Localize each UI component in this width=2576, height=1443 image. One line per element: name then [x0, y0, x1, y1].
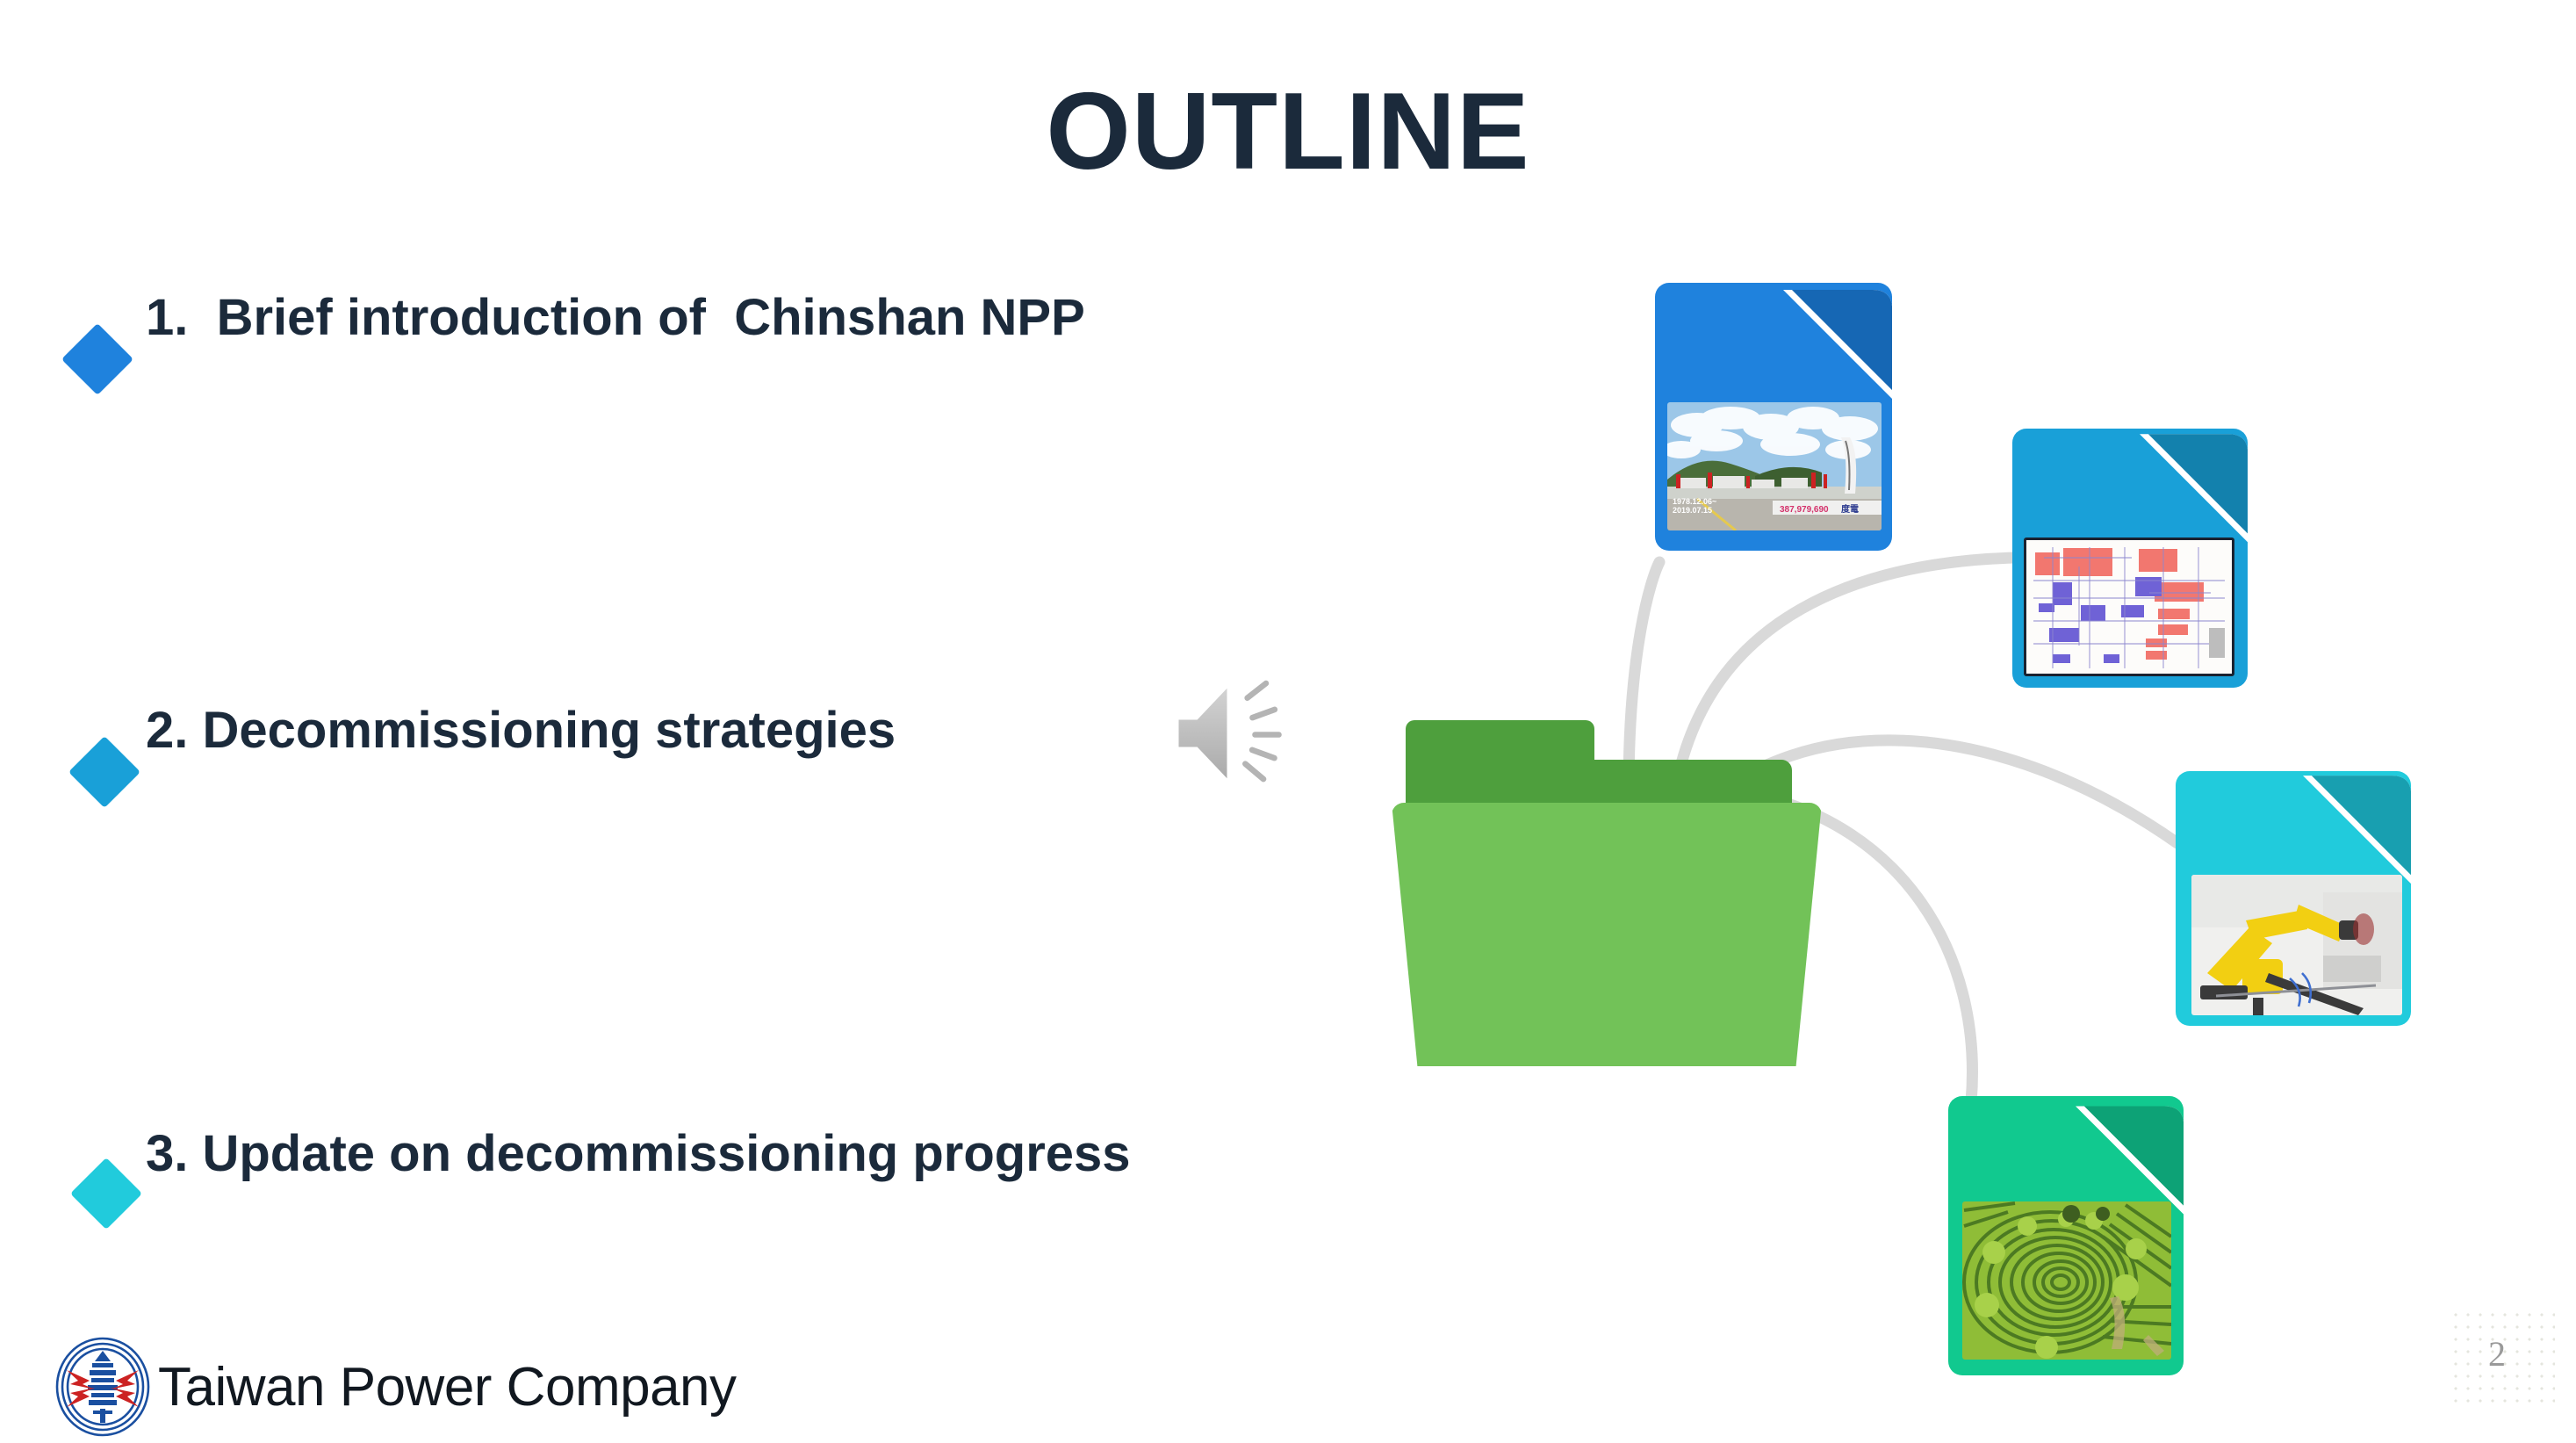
- svg-text:387,979,690: 387,979,690: [1780, 505, 1829, 515]
- robotic-arm-photo-card[interactable]: [2176, 771, 2411, 1026]
- thumbnail-image: [2191, 875, 2402, 1015]
- aerial-green-field-photo-card[interactable]: [1948, 1096, 2184, 1375]
- page-fold-icon: [2140, 429, 2248, 548]
- list-item[interactable]: 3. Update on decommissioning progress: [53, 543, 1220, 675]
- svg-text:1978.12.06~: 1978.12.06~: [1673, 497, 1716, 506]
- footer-brand: Taiwan Power Company: [51, 1335, 737, 1439]
- thumbnail-image: [2024, 538, 2234, 676]
- page-fold-icon: [1783, 283, 1892, 406]
- system-schematic-diagram-card[interactable]: [2012, 429, 2248, 688]
- outline-list: 1. Brief introduction of Chinshan NPP 2.…: [53, 279, 1220, 806]
- diamond-bullet-icon: [70, 1158, 142, 1230]
- diamond-bullet-icon: [61, 323, 133, 395]
- list-item-label: 3. Update on decommissioning progress: [146, 1124, 1199, 1183]
- list-item[interactable]: 1. Brief introduction of Chinshan NPP: [53, 279, 1220, 411]
- page-fold-icon: [2303, 771, 2411, 888]
- list-item-label: 1. Brief introduction of Chinshan NPP: [146, 288, 1164, 347]
- slide-canvas: OUTLINE 1. Brief introduction of Chinsha…: [0, 0, 2576, 1443]
- page-number: 2: [2488, 1333, 2506, 1374]
- list-item[interactable]: 4. Summary: [53, 675, 1220, 806]
- thumbnail-image: [1962, 1201, 2171, 1360]
- thumbnail-image: 1978.12.06~ 2019.07.15 387,979,690 度電: [1667, 402, 1882, 530]
- svg-text:2019.07.15: 2019.07.15: [1673, 506, 1712, 515]
- folder-icon[interactable]: [1392, 720, 1835, 1067]
- taipower-logo-icon: [51, 1335, 155, 1439]
- chinshan-npp-site-photo-card[interactable]: 1978.12.06~ 2019.07.15 387,979,690 度電: [1655, 283, 1892, 551]
- folder-front-panel: [1392, 803, 1822, 1066]
- company-name-label: Taiwan Power Company: [158, 1356, 737, 1418]
- list-item[interactable]: 2. Decommissioning strategies: [53, 411, 1220, 543]
- speaker-sound-icon[interactable]: [1174, 676, 1314, 790]
- svg-text:度電: 度電: [1841, 503, 1859, 515]
- page-title: OUTLINE: [0, 77, 2576, 186]
- page-number-area: 2: [2450, 1309, 2555, 1405]
